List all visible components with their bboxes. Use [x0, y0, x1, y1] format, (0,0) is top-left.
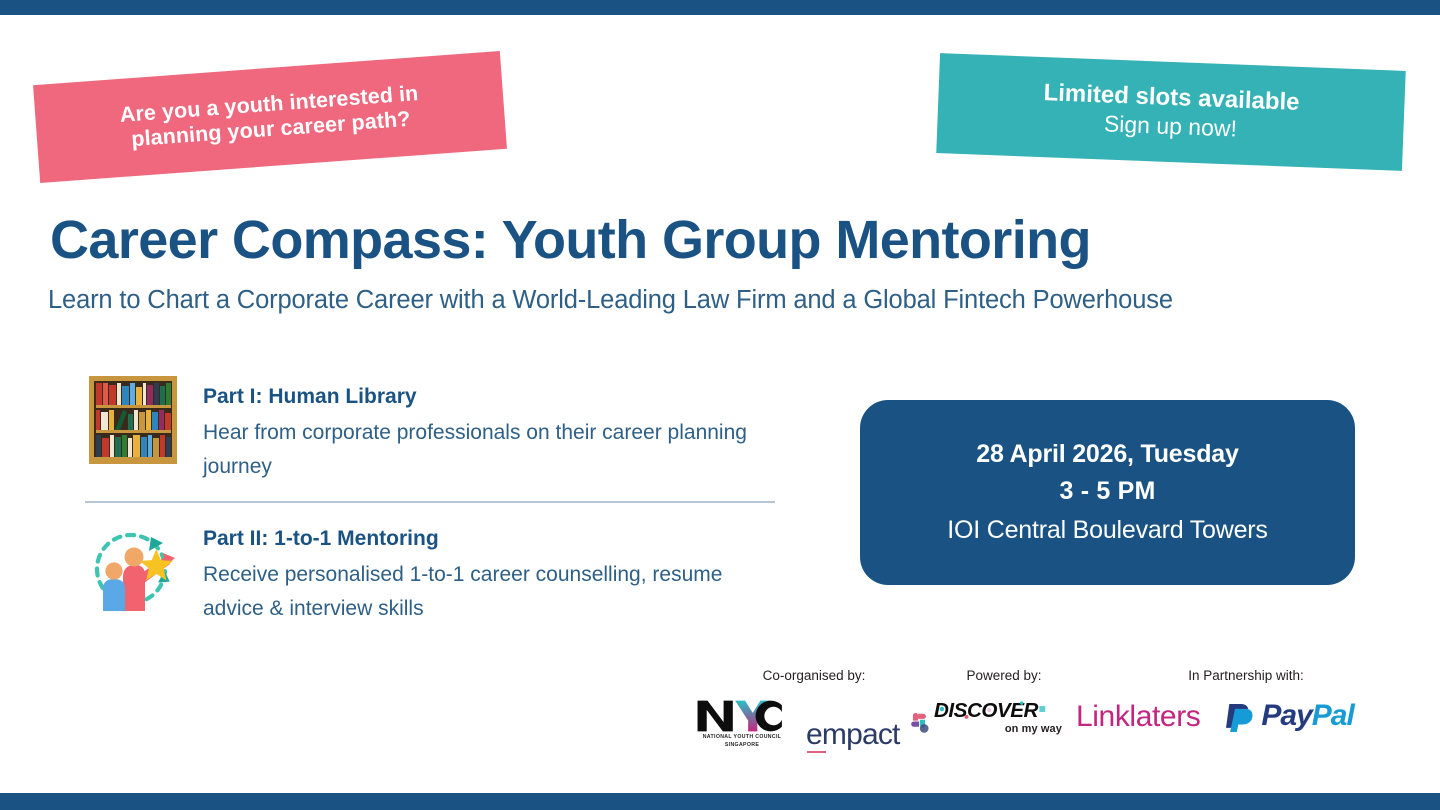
nyc-logo-subline-1: NATIONAL YOUTH COUNCIL	[703, 734, 782, 740]
empact-logo-underline	[807, 751, 826, 754]
paypal-logo-word-pay: Pay	[1261, 699, 1311, 732]
event-venue: IOI Central Boulevard Towers	[947, 516, 1267, 545]
logo-group-in-partnership: In Partnership with: Linklaters PayPal	[1076, 668, 1416, 732]
page-title: Career Compass: Youth Group Mentoring	[50, 209, 1390, 271]
programme-item-part-2: Part II: 1-to-1 Mentoring Receive person…	[85, 519, 785, 626]
event-details-card: 28 April 2026, Tuesday 3 - 5 PM IOI Cent…	[860, 400, 1355, 585]
nyc-logo: NATIONAL YOUTH COUNCIL SINGAPORE	[696, 699, 788, 750]
signup-ribbon-line1: Limited slots available	[1043, 79, 1300, 117]
logo-group-co-organised: Co-organised by:	[696, 668, 932, 750]
logo-group-caption: Co-organised by:	[696, 668, 932, 683]
signup-ribbon: Limited slots available Sign up now!	[936, 53, 1405, 171]
bookshelf-icon	[85, 372, 181, 468]
signup-ribbon-line2: Sign up now!	[1103, 111, 1237, 143]
programme-item-text: Part I: Human Library Hear from corporat…	[203, 372, 763, 484]
event-time: 3 - 5 PM	[1059, 477, 1155, 506]
programme-item-description: Receive personalised 1-to-1 career couns…	[203, 558, 763, 626]
programme-item-part-1: Part I: Human Library Hear from corporat…	[85, 372, 785, 484]
programme-list: Part I: Human Library Hear from corporat…	[85, 372, 785, 626]
discover-logo: DISCOVER on my way	[934, 699, 1062, 735]
discover-logo-tagline: on my way	[934, 723, 1062, 735]
bottom-accent-bar	[0, 793, 1440, 810]
question-ribbon: Are you a youth interested in planning y…	[33, 51, 507, 183]
empact-pinwheel-icon	[906, 712, 932, 738]
logo-group-caption: In Partnership with:	[1076, 668, 1416, 683]
nyc-logo-subline-2: SINGAPORE	[725, 742, 759, 748]
top-accent-bar	[0, 0, 1440, 15]
programme-divider	[85, 501, 775, 503]
programme-item-title: Part I: Human Library	[203, 385, 763, 409]
programme-item-description: Hear from corporate professionals on the…	[203, 416, 763, 484]
programme-item-title: Part II: 1-to-1 Mentoring	[203, 527, 763, 551]
programme-item-text: Part II: 1-to-1 Mentoring Receive person…	[203, 519, 763, 626]
page-subtitle: Learn to Chart a Corporate Career with a…	[48, 286, 1398, 315]
paypal-logo-word-pal: Pal	[1312, 699, 1354, 732]
event-date: 28 April 2026, Tuesday	[976, 440, 1238, 469]
logo-group-caption: Powered by:	[934, 668, 1074, 683]
linklaters-logo: Linklaters	[1076, 702, 1200, 732]
paypal-logo: PayPal	[1226, 699, 1353, 732]
mentoring-icon	[85, 519, 181, 615]
logo-group-powered-by: Powered by: DISCOVER on my way	[934, 668, 1074, 735]
paypal-mark-icon	[1226, 699, 1254, 732]
partner-logo-strip: Co-organised by:	[676, 668, 1416, 758]
empact-logo: empact	[806, 720, 928, 750]
